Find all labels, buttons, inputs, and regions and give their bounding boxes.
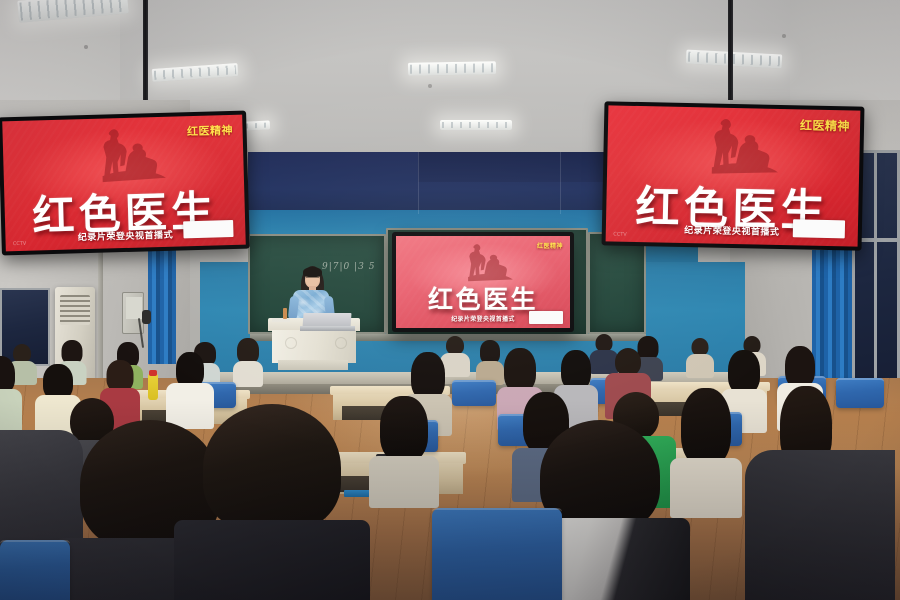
lecture-hall-photo: 9|7|0 |3 5 红医精神 红色医生 纪录片荣登央视首播式 — [0, 0, 900, 600]
left-tv-poster: 红医精神 红色医生 纪录片荣登央视首播式 CCTV — [2, 115, 246, 252]
person-torso — [233, 361, 263, 387]
person-hair — [681, 388, 731, 466]
bottle-cap — [149, 370, 157, 376]
right-tv-poster: 红医精神 红色医生 纪录片荣登央视首播式 CCTV — [606, 105, 861, 246]
right-wall-mounted-tv[interactable]: 红医精神 红色医生 纪录片荣登央视首播式 CCTV — [602, 101, 865, 250]
person-hair — [504, 348, 536, 392]
podium-base — [278, 360, 348, 370]
wall-seam-1 — [418, 152, 419, 214]
chalkboard-right — [588, 232, 646, 334]
person-torso — [745, 450, 895, 600]
wall-phone-handset[interactable] — [142, 310, 151, 324]
classroom-chair-foreground[interactable] — [432, 508, 562, 600]
classroom-chair[interactable] — [836, 378, 884, 408]
person-torso — [686, 354, 714, 378]
chair-rim — [432, 508, 562, 600]
poster-white-placeholder — [529, 311, 563, 324]
classroom-chair[interactable] — [452, 380, 496, 406]
person-torso — [670, 458, 742, 518]
tv-mount-pole-right — [728, 0, 733, 100]
chalkboard-writing: 9|7|0 |3 5 — [322, 262, 402, 276]
poster-badge-text: 红医精神 — [187, 121, 233, 138]
person-hair — [728, 350, 760, 394]
person-hair — [785, 346, 815, 388]
poster-watermark: CCTV — [13, 241, 27, 247]
soldier-medic-illustration — [441, 242, 531, 284]
stage-screen-poster: 红医精神 红色医生 纪录片荣登央视首播式 — [396, 236, 570, 328]
poster-badge-text: 红医精神 — [800, 116, 850, 134]
person-head — [615, 348, 641, 376]
podium-paper-stack — [272, 318, 290, 322]
soldier-medic-illustration — [672, 115, 804, 180]
podium-marker — [283, 308, 287, 319]
yellow-drink-bottle[interactable] — [148, 374, 158, 400]
poster-white-placeholder — [183, 220, 233, 238]
chair-rim — [452, 380, 496, 406]
soldier-medic-illustration — [65, 124, 191, 187]
person-torso — [174, 520, 370, 600]
person-torso — [166, 383, 214, 429]
ceiling-fixture-dot-3 — [782, 34, 786, 38]
ceiling-fixture-dot-2 — [428, 84, 432, 88]
poster-watermark: CCTV — [613, 231, 627, 237]
presenter-glasses — [306, 277, 319, 280]
ceiling-fixture-dot-1 — [84, 45, 88, 49]
wall-seam-2 — [560, 152, 561, 214]
person-hair — [411, 352, 445, 400]
presenter-fringe — [303, 267, 322, 277]
wall-control-panel-face — [126, 297, 142, 319]
chair-rim — [0, 540, 70, 600]
curtain-left — [148, 244, 176, 364]
window-mullion-v — [874, 150, 877, 400]
person-torso — [369, 456, 439, 508]
person-head — [203, 404, 341, 532]
stage-projection-screen[interactable]: 红医精神 红色医生 纪录片荣登央视首播式 — [392, 232, 574, 332]
poster-white-placeholder — [793, 219, 845, 238]
ceiling-light-5 — [440, 120, 512, 130]
podium-emblem-left — [285, 337, 297, 349]
ceiling-light-3 — [408, 61, 496, 76]
chair-rim — [836, 378, 884, 408]
classroom-chair-foreground[interactable] — [0, 540, 70, 600]
podium-emblem-right — [335, 337, 347, 349]
person-hair — [380, 396, 428, 462]
person-hair — [561, 350, 591, 390]
air-conditioner-grill — [60, 295, 90, 325]
left-wall-mounted-tv[interactable]: 红医精神 红色医生 纪录片荣登央视首播式 CCTV — [0, 111, 250, 256]
presenter-laptop-base[interactable] — [300, 326, 355, 331]
person-torso — [0, 389, 22, 435]
poster-badge-text: 红医精神 — [537, 241, 563, 250]
